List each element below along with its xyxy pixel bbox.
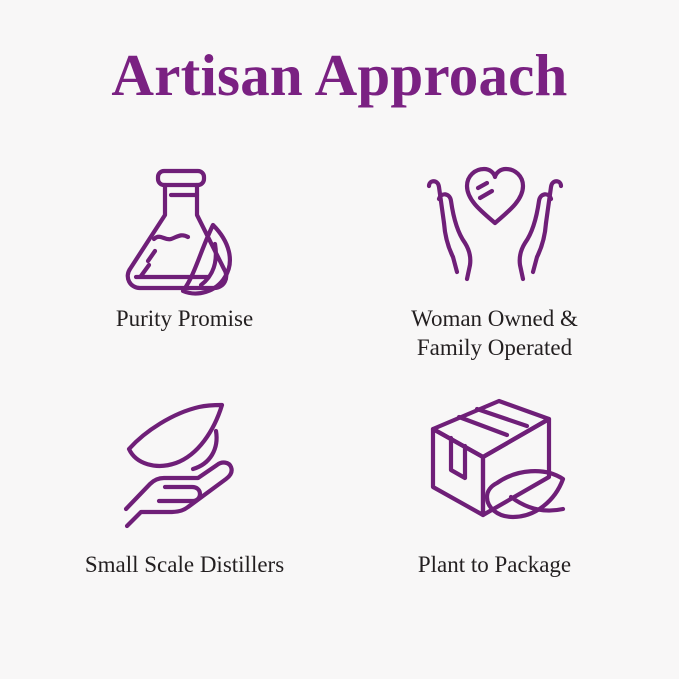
- hands-heart-icon: [415, 146, 575, 296]
- artisan-approach-panel: Artisan Approach: [0, 0, 679, 679]
- feature-label: Plant to Package: [418, 550, 571, 579]
- hand-leaf-icon: [110, 386, 260, 536]
- feature-grid: Purity Promise: [30, 146, 650, 626]
- feature-label: Purity Promise: [116, 304, 253, 333]
- box-leaf-icon: [415, 386, 575, 536]
- page-title: Artisan Approach: [111, 44, 567, 108]
- feature-item-small-scale-distillers: Small Scale Distillers: [30, 386, 340, 626]
- feature-item-purity-promise: Purity Promise: [30, 146, 340, 386]
- feature-label: Small Scale Distillers: [85, 550, 284, 579]
- feature-item-plant-to-package: Plant to Package: [340, 386, 650, 626]
- feature-item-woman-owned: Woman Owned & Family Operated: [340, 146, 650, 386]
- feature-label: Woman Owned & Family Operated: [411, 304, 578, 363]
- flask-leaf-icon: [110, 146, 260, 296]
